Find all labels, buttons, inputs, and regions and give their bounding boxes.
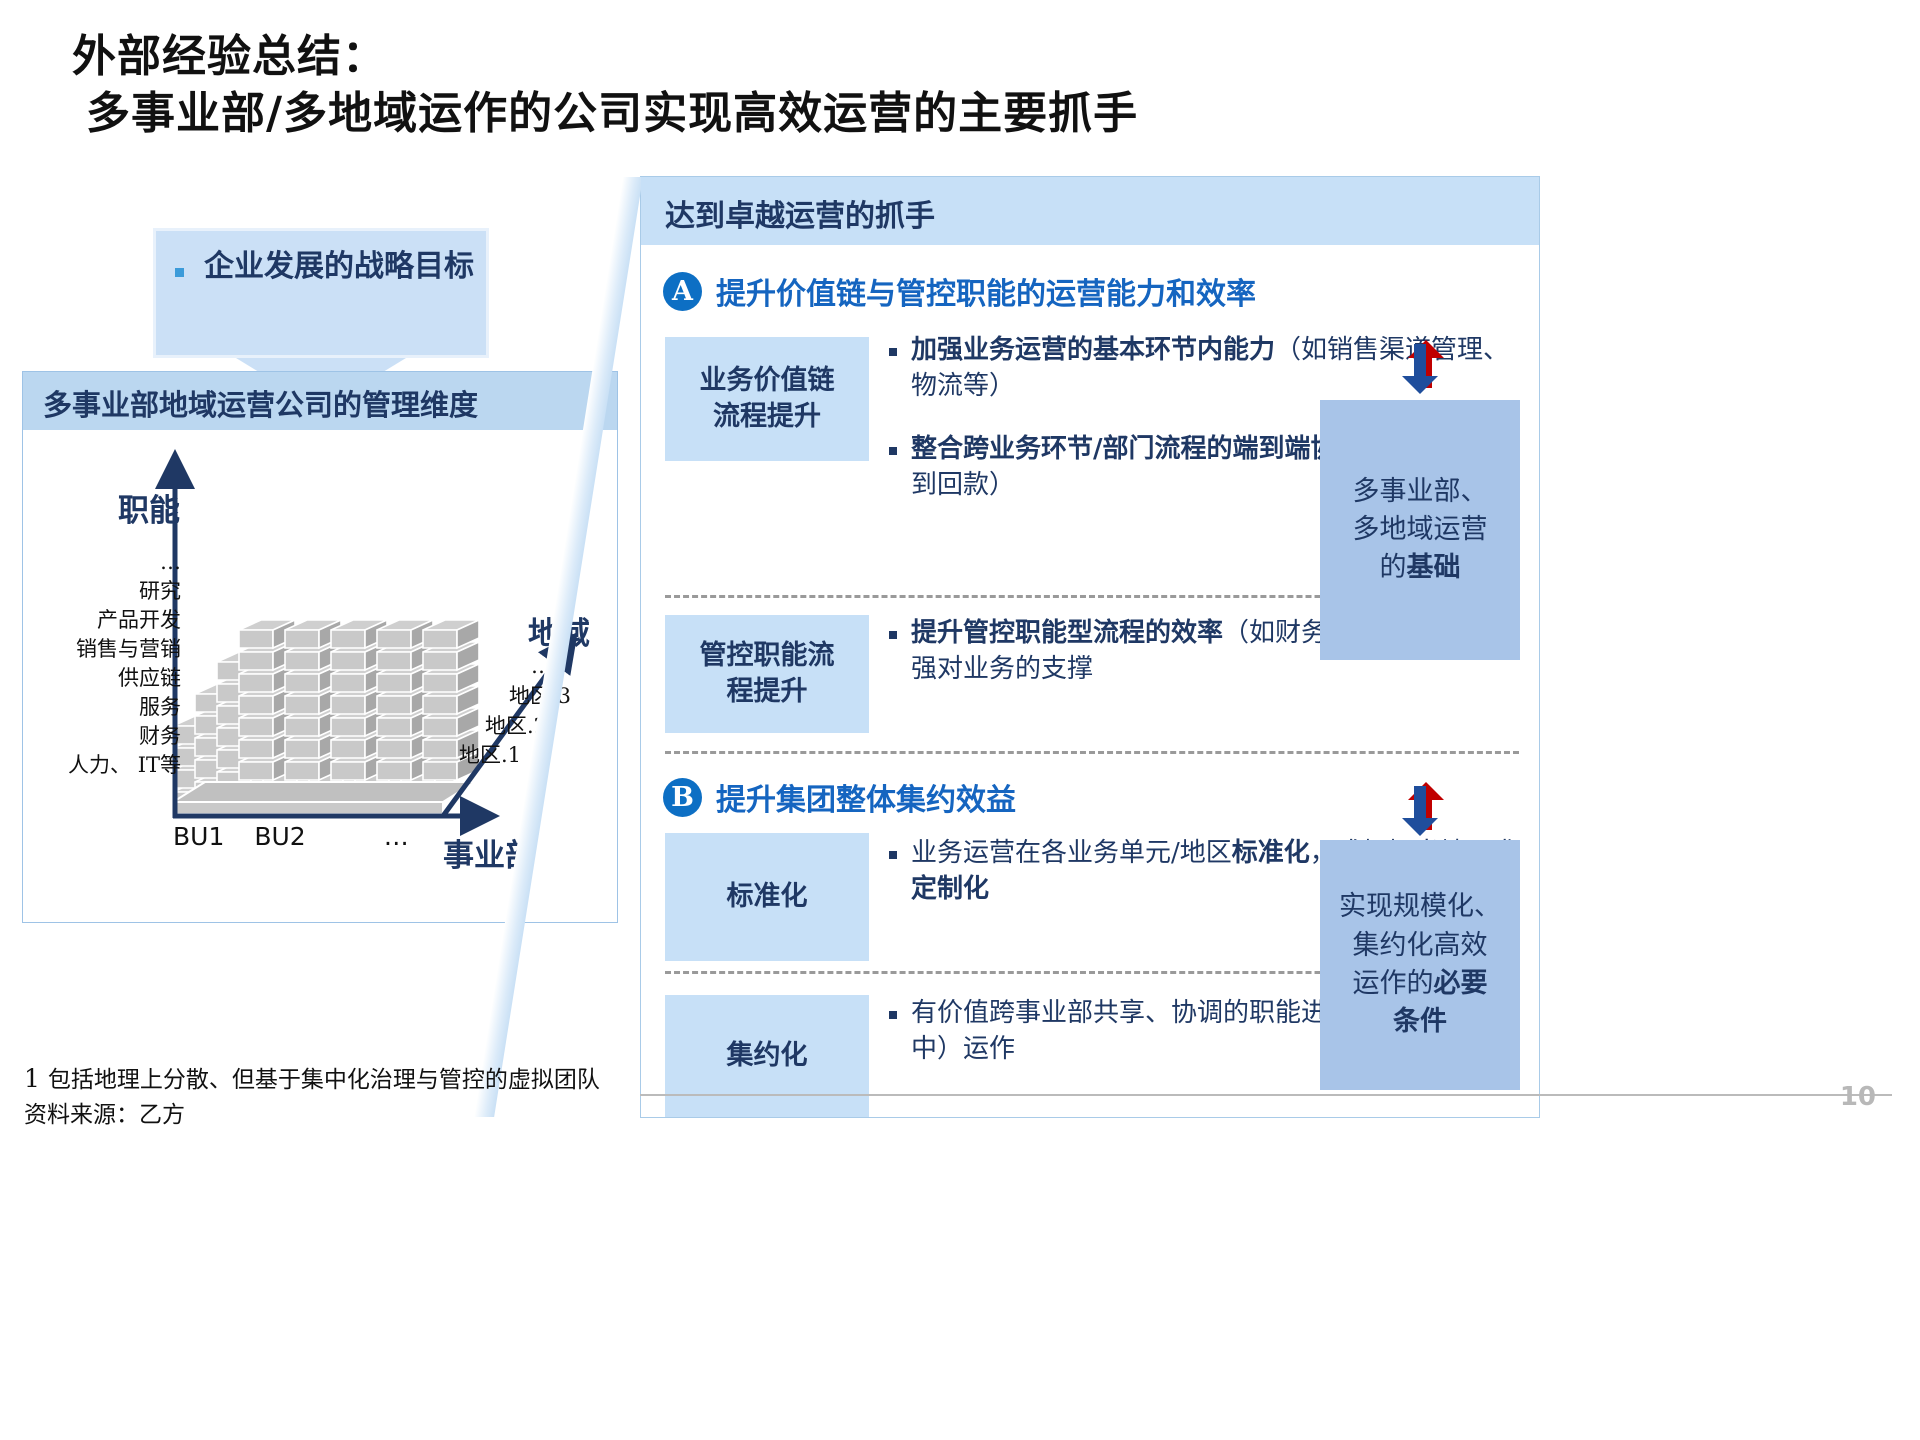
y-tick: 销售与营销 [1, 635, 181, 664]
bullet-bold: 加强业务运营的基本环节内能力 [911, 335, 1275, 365]
bullet-dot-icon [889, 1011, 897, 1019]
bullet-dot-icon [889, 631, 897, 639]
up-down-arrows-icon-b [1392, 778, 1454, 840]
strategy-goal-text: 企业发展的战略目标 [201, 246, 477, 289]
y-axis-title: 职能 [118, 485, 180, 530]
y-tick: … [33, 548, 181, 577]
footnote-line: 1包括地理上分散、但基于集中化治理与管控的虚拟团队 [24, 1060, 924, 1098]
bullet-dot-icon [889, 851, 897, 859]
x-tick: BU2 [254, 822, 305, 851]
row-label-value-chain: 业务价值链 流程提升 [665, 337, 869, 461]
y-tick: 财务 [33, 722, 181, 751]
title-line-1: 外部经验总结： [72, 28, 1572, 85]
sidebox-highlight: 基础 [1407, 552, 1461, 583]
y-tick: 产品开发 [33, 606, 181, 635]
bullet-bold: 整合跨业务环节/部门流程的端到端协同 [911, 434, 1363, 464]
y-tick: 人力、 IT等 [1, 751, 181, 780]
divider-section-a-b [665, 751, 1519, 754]
bullet-dot-icon [889, 447, 897, 455]
y-tick: 供应链 [33, 664, 181, 693]
sidebox-text: 实现规模化、 集约化高效 运作的必要 条件 [1339, 888, 1501, 1041]
footnote-marker: 1 [24, 1064, 40, 1093]
y-axis-tick-labels: … 研究 产品开发 销售与营销 供应链 服务 财务 人力、 IT等 [33, 548, 181, 780]
x-tick: … [384, 822, 409, 851]
bullet-square-icon [175, 268, 184, 277]
slide-root: 外部经验总结： 多事业部/多地域运作的公司实现高效运营的主要抓手 企业发展的战略… [0, 0, 1920, 1440]
section-b-title: 提升集团整体集约效益 [716, 775, 1016, 819]
y-tick: 服务 [33, 693, 181, 722]
bullet-dot-icon [889, 348, 897, 356]
z-axis-tick-labels: … 地区.3 地区.2 地区.1 [453, 652, 593, 771]
left-panel-header: 多事业部地域运营公司的管理维度 [23, 372, 617, 430]
up-down-arrows-icon-a [1392, 336, 1454, 398]
row-label-text: 标准化 [727, 879, 808, 915]
section-a-title: 提升价值链与管控职能的运营能力和效率 [716, 269, 1256, 313]
right-panel-header-text: 达到卓越运营的抓手 [665, 191, 935, 235]
title-line-2: 多事业部/多地域运作的公司实现高效运营的主要抓手 [72, 85, 1572, 142]
row-label-text: 业务价值链 流程提升 [700, 363, 835, 434]
page-number: 10 [1840, 1082, 1876, 1112]
row-label-control-function: 管控职能流 程提升 [665, 615, 869, 733]
sidebox-text: 多事业部、 多地域运营 的基础 [1353, 473, 1488, 588]
left-panel-header-text: 多事业部地域运营公司的管理维度 [43, 382, 478, 424]
section-a-badge-icon: A [663, 272, 702, 311]
x-axis-tick-labels: BU1 BU2 … [173, 822, 463, 851]
y-tick: 研究 [33, 577, 181, 606]
sidebox-necessary-condition: 实现规模化、 集约化高效 运作的必要 条件 [1320, 840, 1520, 1090]
x-tick: BU1 [173, 822, 224, 851]
source-line: 资料来源：乙方 [24, 1098, 924, 1133]
right-panel-header: 达到卓越运营的抓手 [641, 177, 1539, 245]
bullet-bold-2: 定制化 [911, 874, 989, 904]
section-a-header: A 提升价值链与管控职能的运营能力和效率 [663, 269, 1256, 313]
section-b-badge-icon: B [663, 778, 702, 817]
page-title: 外部经验总结： 多事业部/多地域运作的公司实现高效运营的主要抓手 [72, 28, 1572, 142]
strategy-goal-callout: 企业发展的战略目标 [153, 228, 489, 358]
row-label-text: 管控职能流 程提升 [700, 638, 835, 709]
sidebox-foundation: 多事业部、 多地域运营 的基础 [1320, 400, 1520, 660]
bullet-bold: 提升管控职能型流程的效率 [911, 618, 1223, 648]
bullet-bold: 标准化 [1232, 838, 1310, 868]
bullet-normal-1: 业务运营在各业务单元/地区 [911, 838, 1232, 868]
section-b-header: B 提升集团整体集约效益 [663, 775, 1016, 819]
z-tick: 地区.1 [459, 741, 593, 771]
bullet-normal-1: 有价值跨事业部共享、协调的职能进行 [911, 998, 1353, 1028]
footnote-text: 包括地理上分散、但基于集中化治理与管控的虚拟团队 [48, 1067, 600, 1093]
footnote-block: 1包括地理上分散、但基于集中化治理与管控的虚拟团队 资料来源：乙方 [24, 1060, 924, 1132]
row-label-standardization: 标准化 [665, 833, 869, 961]
